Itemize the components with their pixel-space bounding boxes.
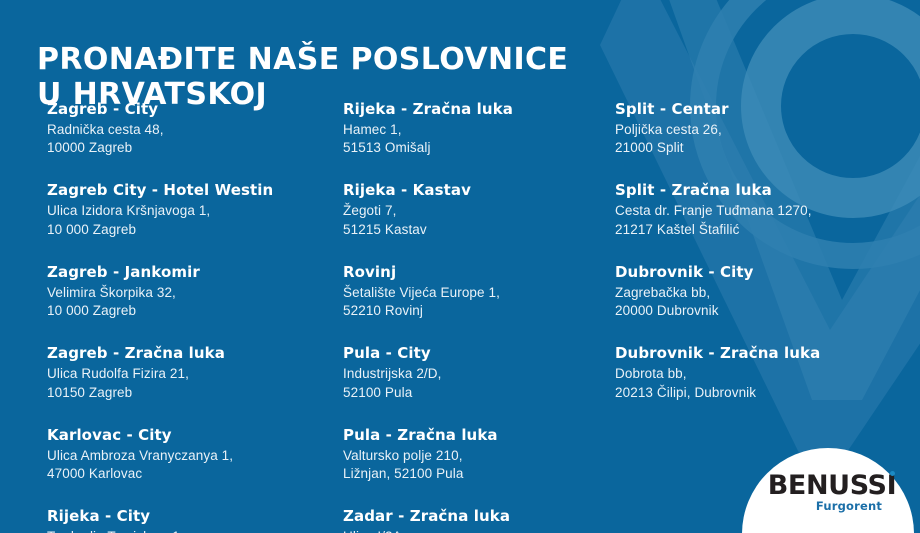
branch-name: Zagreb City - Hotel Westin <box>47 181 330 199</box>
branch-name: Karlovac - City <box>47 426 330 444</box>
branch-item[interactable]: Karlovac - City Ulica Ambroza Vranyczany… <box>47 426 330 483</box>
branch-item[interactable]: Zagreb - City Radnička cesta 48, 10000 Z… <box>47 100 330 157</box>
branch-address: Poljička cesta 26, 21000 Split <box>615 121 920 157</box>
branch-item[interactable]: Rijeka - Kastav Žegoti 7, 51215 Kastav <box>343 181 608 238</box>
branch-address: Žegoti 7, 51215 Kastav <box>343 202 608 238</box>
branch-name: Dubrovnik - City <box>615 263 920 281</box>
branch-name: Dubrovnik - Zračna luka <box>615 344 920 362</box>
branch-name: Zagreb - Jankomir <box>47 263 330 281</box>
branch-name: Zagreb - Zračna luka <box>47 344 330 362</box>
branch-name: Pula - City <box>343 344 608 362</box>
branch-address: Ulica Rudolfa Fizira 21, 10150 Zagreb <box>47 365 330 401</box>
branch-address: Dobrota bb, 20213 Čilipi, Dubrovnik <box>615 365 920 401</box>
branch-address: Trg kralja Tomislava 1, 51215 Rijeka <box>47 528 330 533</box>
branch-item[interactable]: Split - Zračna luka Cesta dr. Franje Tuđ… <box>615 181 920 238</box>
branch-address: Ulica Ambroza Vranyczanya 1, 47000 Karlo… <box>47 447 330 483</box>
locations-column-1: Zagreb - City Radnička cesta 48, 10000 Z… <box>0 100 330 533</box>
branch-address: Radnička cesta 48, 10000 Zagreb <box>47 121 330 157</box>
branch-address: Velimira Škorpika 32, 10 000 Zagreb <box>47 284 330 320</box>
branch-item[interactable]: Pula - Zračna luka Valtursko polje 210, … <box>343 426 608 483</box>
branch-name: Rijeka - Kastav <box>343 181 608 199</box>
locations-column-2: Rijeka - Zračna luka Hamec 1, 51513 Omiš… <box>330 100 608 533</box>
branch-item[interactable]: Rijeka - City Trg kralja Tomislava 1, 51… <box>47 507 330 533</box>
branch-address: Ulica I/2A, 23222 Zemunik Donji <box>343 528 608 533</box>
brand-tagline: Furgorent <box>762 501 902 513</box>
locations-poster: PRONAĐITE NAŠE POSLOVNICE U HRVATSKOJ Za… <box>0 0 920 533</box>
branch-name: Rovinj <box>343 263 608 281</box>
branch-name: Split - Zračna luka <box>615 181 920 199</box>
branch-item[interactable]: Zagreb City - Hotel Westin Ulica Izidora… <box>47 181 330 238</box>
branch-address: Šetalište Vijeća Europe 1, 52210 Rovinj <box>343 284 608 320</box>
branch-address: Zagrebačka bb, 20000 Dubrovnik <box>615 284 920 320</box>
branch-item[interactable]: Dubrovnik - City Zagrebačka bb, 20000 Du… <box>615 263 920 320</box>
branch-address: Industrijska 2/D, 52100 Pula <box>343 365 608 401</box>
brand-wordmark: BENUSSI <box>768 472 896 499</box>
branch-item[interactable]: Pula - City Industrijska 2/D, 52100 Pula <box>343 344 608 401</box>
branch-name: Pula - Zračna luka <box>343 426 608 444</box>
branch-name: Rijeka - City <box>47 507 330 525</box>
branch-name: Split - Centar <box>615 100 920 118</box>
branch-name: Rijeka - Zračna luka <box>343 100 608 118</box>
branch-name: Zadar - Zračna luka <box>343 507 608 525</box>
branch-address: Hamec 1, 51513 Omišalj <box>343 121 608 157</box>
branch-item[interactable]: Rovinj Šetalište Vijeća Europe 1, 52210 … <box>343 263 608 320</box>
branch-item[interactable]: Dubrovnik - Zračna luka Dobrota bb, 2021… <box>615 344 920 401</box>
branch-item[interactable]: Zagreb - Zračna luka Ulica Rudolfa Fizir… <box>47 344 330 401</box>
branch-item[interactable]: Zagreb - Jankomir Velimira Škorpika 32, … <box>47 263 330 320</box>
branch-address: Valtursko polje 210, Ližnjan, 52100 Pula <box>343 447 608 483</box>
branch-item[interactable]: Zadar - Zračna luka Ulica I/2A, 23222 Ze… <box>343 507 608 533</box>
brand-wordmark-text: BENUSSI <box>768 470 896 501</box>
branch-item[interactable]: Rijeka - Zračna luka Hamec 1, 51513 Omiš… <box>343 100 608 157</box>
branch-address: Ulica Izidora Kršnjavoga 1, 10 000 Zagre… <box>47 202 330 238</box>
branch-name: Zagreb - City <box>47 100 330 118</box>
branch-item[interactable]: Split - Centar Poljička cesta 26, 21000 … <box>615 100 920 157</box>
branch-address: Cesta dr. Franje Tuđmana 1270, 21217 Kaš… <box>615 202 920 238</box>
brand-logo[interactable]: BENUSSI Furgorent <box>762 472 902 513</box>
